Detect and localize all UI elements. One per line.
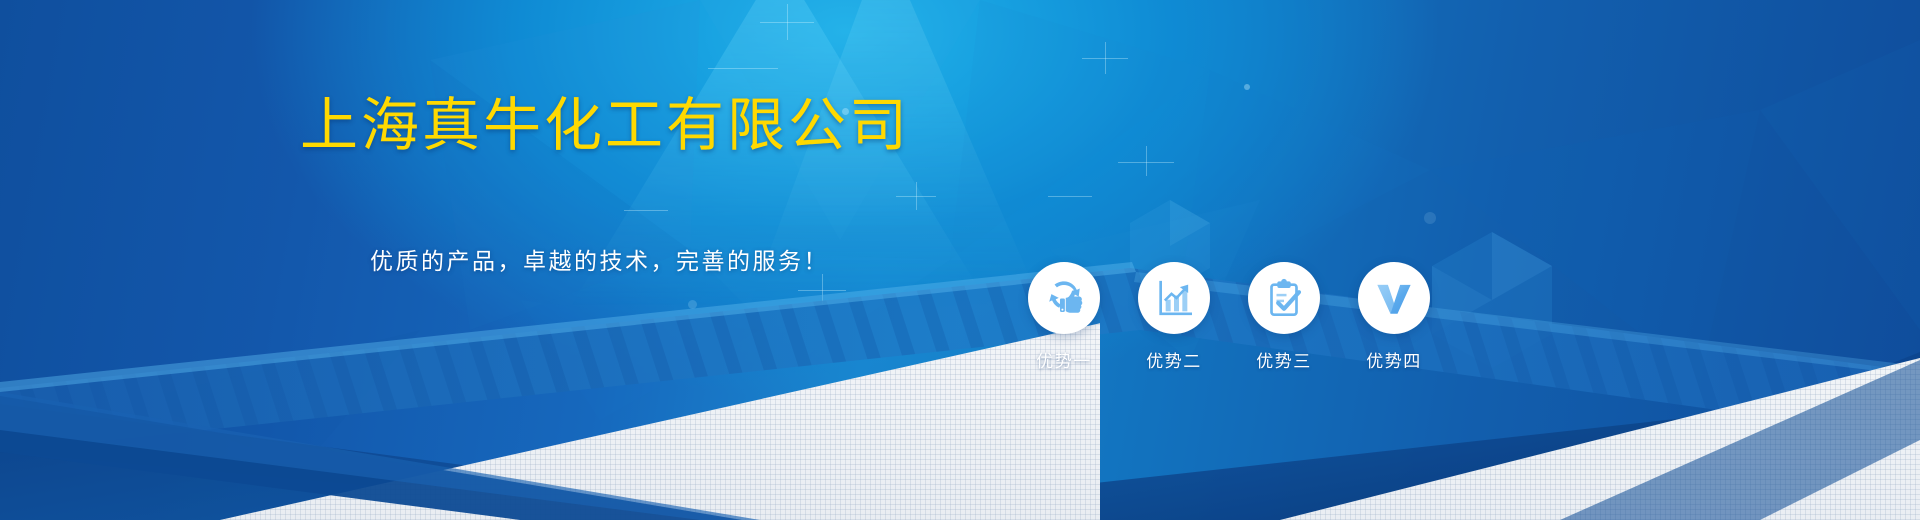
advantage-label-4: 优势四 [1366, 347, 1422, 372]
advantage-label-3: 优势三 [1256, 347, 1312, 372]
advantage-icon-circle-4 [1358, 262, 1430, 334]
clipboard-check-icon [1264, 278, 1304, 318]
advantage-item-1[interactable]: 优势一 [1028, 262, 1100, 372]
company-slogan: 优质的产品，卓越的技术，完善的服务！ [370, 242, 829, 276]
advantage-label-2: 优势二 [1146, 347, 1202, 372]
advantage-icon-circle-1 [1028, 262, 1100, 334]
advantage-label-1: 优势一 [1036, 347, 1092, 372]
advantages-list: 优势一 [1028, 262, 1430, 372]
advantage-icon-circle-3 [1248, 262, 1320, 334]
v-check-icon [1373, 277, 1415, 319]
bar-chart-growth-icon [1154, 278, 1194, 318]
company-hero-banner: 上海真牛化工有限公司 优质的产品，卓越的技术，完善的服务！ [0, 0, 1920, 520]
company-title: 上海真牛化工有限公司 [300, 93, 910, 158]
refresh-thumbs-up-icon [1043, 277, 1085, 319]
advantage-icon-circle-2 [1138, 262, 1210, 334]
advantage-item-4[interactable]: 优势四 [1358, 262, 1430, 372]
banner-content: 上海真牛化工有限公司 优质的产品，卓越的技术，完善的服务！ [0, 0, 1920, 520]
advantage-item-3[interactable]: 优势三 [1248, 262, 1320, 372]
advantage-item-2[interactable]: 优势二 [1138, 262, 1210, 372]
